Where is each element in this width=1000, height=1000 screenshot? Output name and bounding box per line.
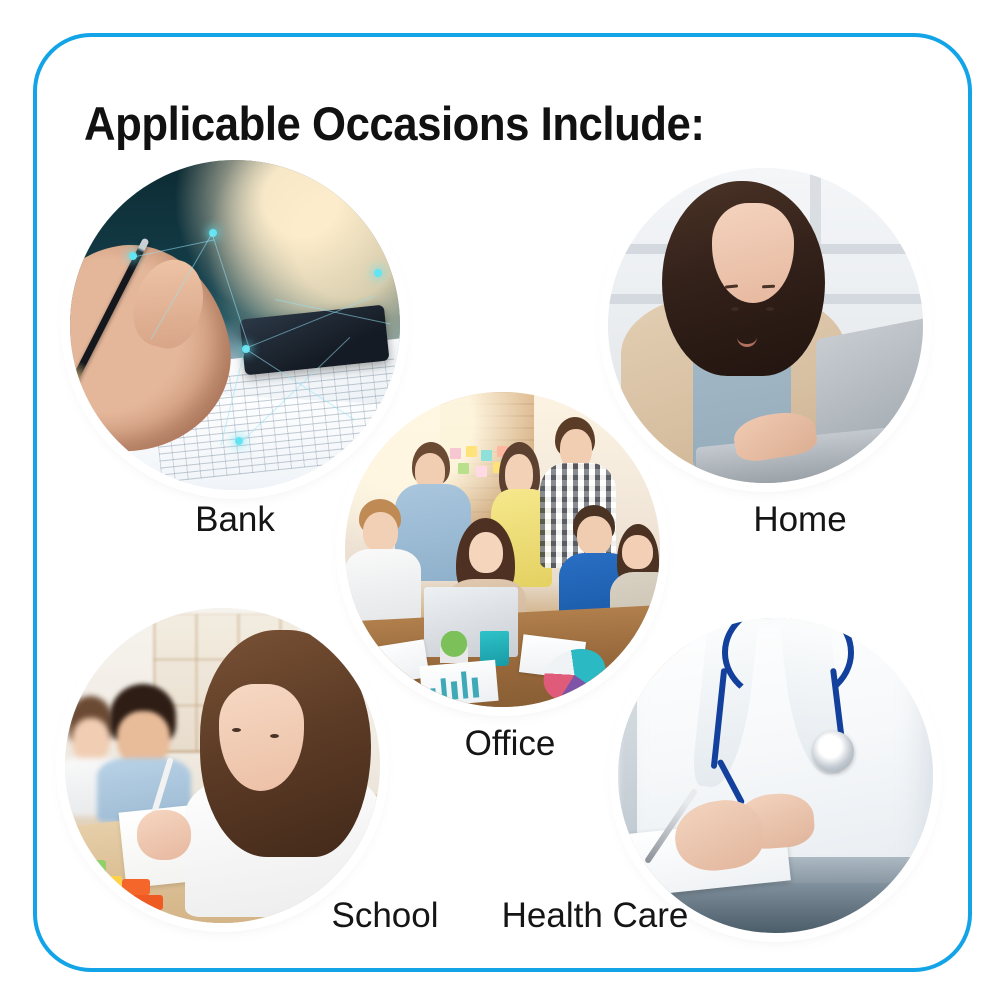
occasion-label-health-care: Health Care xyxy=(450,896,740,936)
occasion-label-office: Office xyxy=(410,724,610,764)
home-brow-left xyxy=(724,284,737,288)
occasion-image-health-care xyxy=(618,618,933,933)
home-brow-right xyxy=(762,284,775,288)
home-eye-left xyxy=(731,307,739,311)
school-foam-letter-orange-a xyxy=(122,879,150,895)
school-girl-hand xyxy=(137,810,191,860)
occasion-image-school xyxy=(65,608,380,923)
occasion-label-bank: Bank xyxy=(135,500,335,540)
page-title: Applicable Occasions Include: xyxy=(84,96,704,151)
health-care-photo xyxy=(618,618,933,933)
promo-graphic: Applicable Occasions Include: xyxy=(0,0,1000,1000)
office-bar-chart-paper xyxy=(419,660,498,707)
occasion-label-home: Home xyxy=(705,500,895,540)
school-child-boy xyxy=(97,684,192,823)
school-foam-letter-green xyxy=(78,860,106,876)
school-foam-letter-yellow xyxy=(90,876,122,892)
home-eye-right xyxy=(766,307,774,311)
school-foam-letter-orange-b xyxy=(131,895,163,911)
occasion-image-office xyxy=(345,392,660,707)
school-photo xyxy=(65,608,380,923)
office-photo xyxy=(345,392,660,707)
office-plant xyxy=(440,631,468,663)
